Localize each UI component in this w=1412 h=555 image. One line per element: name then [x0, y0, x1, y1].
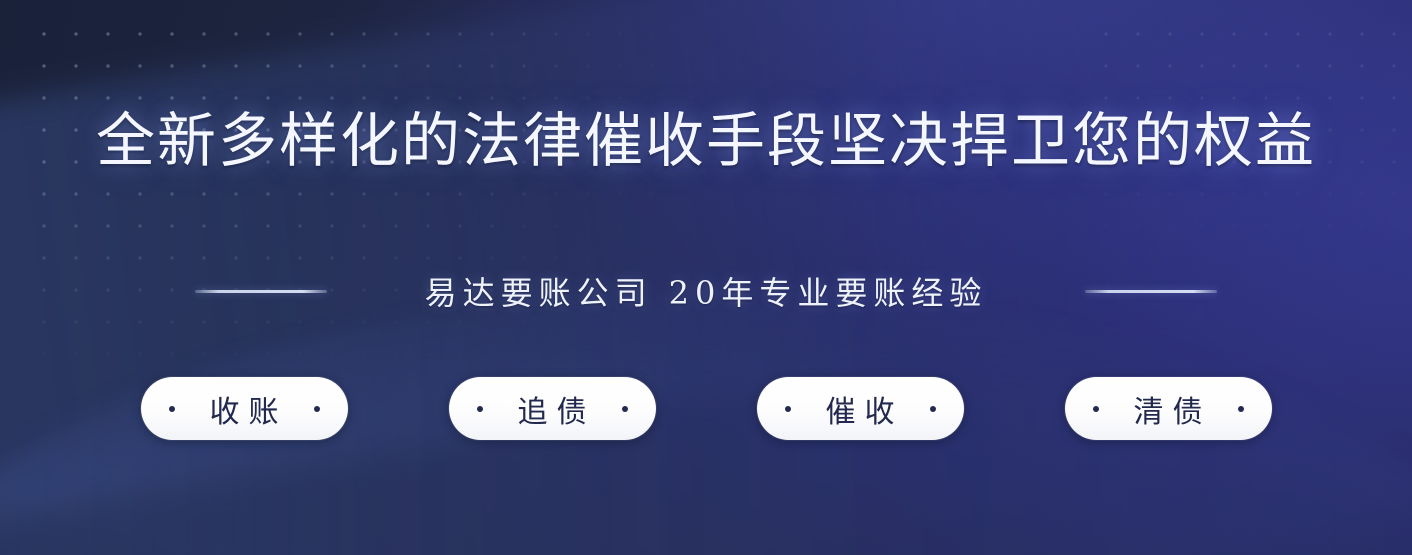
service-pill-shouzhang[interactable]: 收账: [141, 377, 348, 440]
banner-content: 全新多样化的法律催收手段坚决捍卫您的权益 易达要账公司20年专业要账经验 收账 …: [0, 0, 1412, 555]
subtitle-experience: 20年专业要账经验: [669, 274, 988, 312]
divider-left: [195, 290, 327, 293]
service-pill-label: 清债: [1125, 387, 1212, 431]
service-pill-label: 催收: [817, 387, 904, 431]
bullet-dot-right-icon: [930, 406, 936, 412]
bullet-dot-left-icon: [169, 406, 175, 412]
service-pill-qingzhai[interactable]: 清债: [1065, 377, 1272, 440]
bullet-dot-left-icon: [477, 406, 483, 412]
subtitle-company: 易达要账公司: [425, 274, 653, 312]
service-pill-zhuizhai[interactable]: 追债: [449, 377, 656, 440]
bullet-dot-right-icon: [622, 406, 628, 412]
bullet-dot-right-icon: [1238, 406, 1244, 412]
bullet-dot-left-icon: [1093, 406, 1099, 412]
banner-subtitle-row: 易达要账公司20年专业要账经验: [0, 268, 1412, 314]
promotional-banner: 全新多样化的法律催收手段坚决捍卫您的权益 易达要账公司20年专业要账经验 收账 …: [0, 0, 1412, 555]
bullet-dot-right-icon: [314, 406, 320, 412]
divider-right: [1085, 290, 1217, 293]
service-pill-label: 收账: [201, 387, 288, 431]
service-pill-cuishou[interactable]: 催收: [757, 377, 964, 440]
banner-subtitle: 易达要账公司20年专业要账经验: [425, 268, 988, 314]
service-pill-label: 追债: [509, 387, 596, 431]
banner-headline: 全新多样化的法律催收手段坚决捍卫您的权益: [0, 108, 1412, 174]
service-pill-row: 收账 追债 催收 清债: [0, 377, 1412, 440]
bullet-dot-left-icon: [785, 406, 791, 412]
